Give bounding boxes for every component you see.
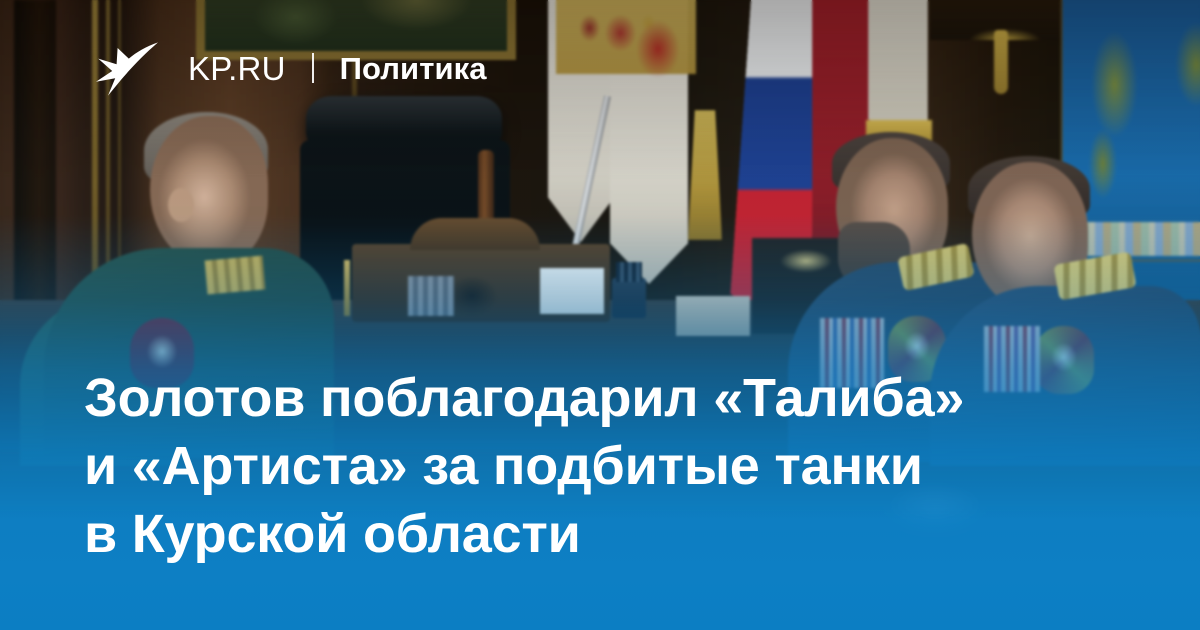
header-divider	[312, 53, 314, 83]
swallow-bird-logo-icon[interactable]	[96, 40, 158, 96]
brand-name[interactable]: KP.RU	[188, 52, 286, 85]
social-share-card: KP.RU Политика Золотов поблагодарил «Тал…	[0, 0, 1200, 630]
brand-header: KP.RU Политика	[96, 40, 487, 96]
article-headline: Золотов поблагодарил «Талиба» и «Артиста…	[84, 364, 1024, 568]
rubric-label[interactable]: Политика	[340, 53, 487, 84]
